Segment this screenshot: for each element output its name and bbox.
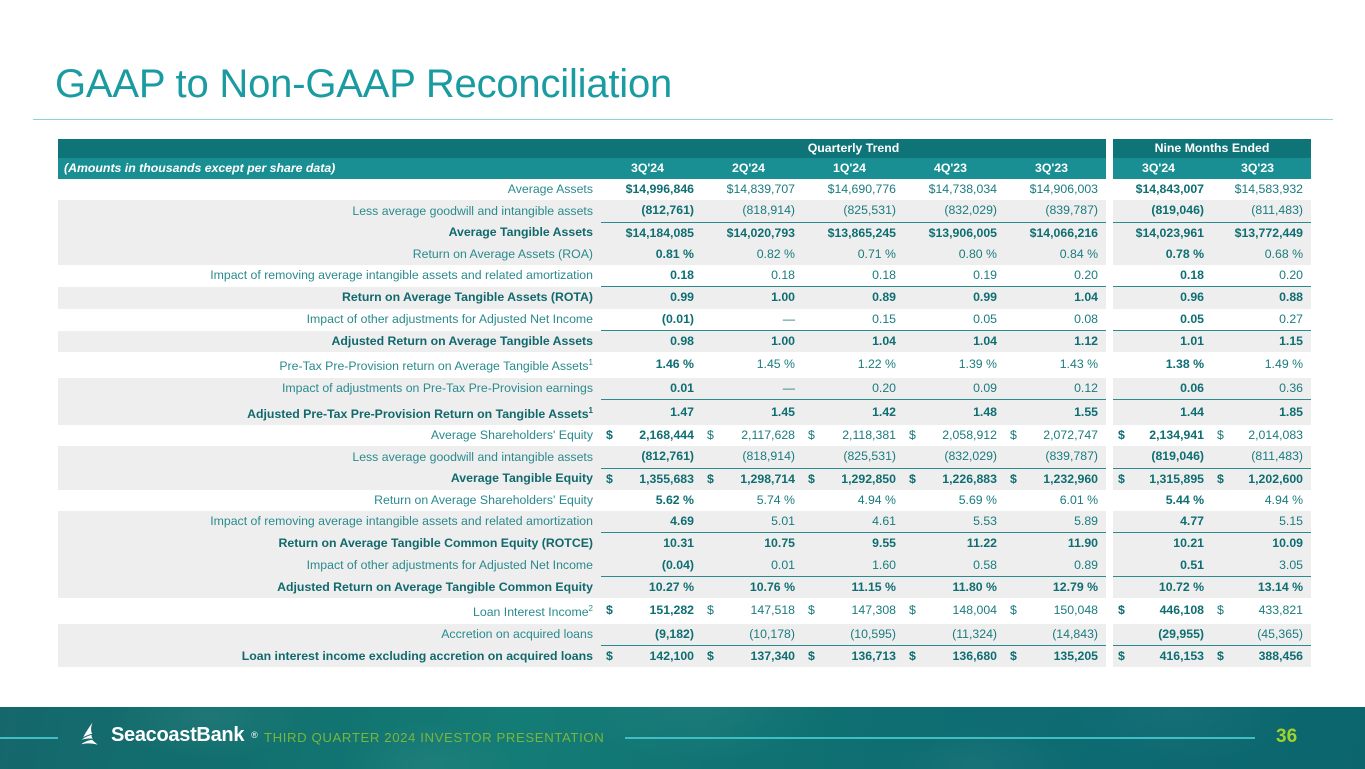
table-row: Loan Interest Income2$151,282$147,518$14… — [58, 598, 1311, 623]
cell-value: 416,153 — [1160, 646, 1204, 667]
table-head: Quarterly Trend Nine Months Ended (Amoun… — [58, 139, 1311, 179]
table-cell: 0.58 — [904, 555, 1005, 577]
column-group-gap — [1106, 352, 1113, 377]
table-row: Return on Average Assets (ROA)0.81 %0.82… — [58, 244, 1311, 265]
table-cell: $137,340 — [702, 646, 803, 668]
cell-value: 137,340 — [751, 646, 795, 667]
table-cell: 0.88 — [1212, 287, 1311, 309]
table-cell: 1.04 — [904, 331, 1005, 353]
group-gap — [1106, 139, 1113, 158]
table-cell: $14,023,961 — [1113, 222, 1212, 244]
table-cell: 0.68 % — [1212, 244, 1311, 265]
table-cell: 0.08 — [1005, 309, 1106, 331]
table-row: Return on Average Tangible Common Equity… — [58, 533, 1311, 555]
cell-value: 1,298,714 — [740, 469, 795, 490]
column-group-gap — [1106, 309, 1113, 331]
cell-value: 446,108 — [1160, 600, 1204, 621]
table-cell: 10.21 — [1113, 533, 1212, 555]
registered-trademark-icon: ® — [251, 730, 258, 740]
table-cell: 0.15 — [803, 309, 904, 331]
table-cell: 1.04 — [1005, 287, 1106, 309]
cell-value: 142,100 — [650, 646, 694, 667]
reconciliation-table-wrapper: Quarterly Trend Nine Months Ended (Amoun… — [58, 139, 1306, 667]
row-label: Average Assets — [58, 179, 601, 200]
column-group-gap — [1106, 555, 1113, 577]
table-cell: (839,787) — [1005, 200, 1106, 222]
table-cell: $14,906,003 — [1005, 179, 1106, 200]
table-cell: 1.47 — [601, 400, 702, 425]
group-header-quarterly: Quarterly Trend — [601, 139, 1106, 158]
column-group-gap — [1106, 331, 1113, 353]
table-cell: 1.85 — [1212, 400, 1311, 425]
row-label: Impact of adjustments on Pre-Tax Pre-Pro… — [58, 378, 601, 400]
table-cell: $14,583,932 — [1212, 179, 1311, 200]
table-cell: 0.18 — [1113, 265, 1212, 287]
page-number: 36 — [1276, 726, 1297, 748]
currency-symbol: $ — [1005, 646, 1017, 667]
cell-value: 1,202,600 — [1248, 469, 1303, 490]
cell-value: 151,282 — [650, 600, 694, 621]
column-group-gap — [1106, 222, 1113, 244]
seacoast-logo: SeacoastBank ® — [80, 722, 258, 748]
table-cell: 0.18 — [702, 265, 803, 287]
table-cell: 1.00 — [702, 287, 803, 309]
table-cell: (0.04) — [601, 555, 702, 577]
column-group-gap — [1106, 598, 1113, 623]
currency-symbol: $ — [1113, 469, 1125, 490]
table-cell: 4.94 % — [803, 490, 904, 511]
footnote-marker: 2 — [589, 604, 593, 613]
table-cell: 0.78 % — [1113, 244, 1212, 265]
column-group-gap — [1106, 446, 1113, 468]
table-cell: $416,153 — [1113, 646, 1212, 668]
table-cell: 0.19 — [904, 265, 1005, 287]
currency-symbol: $ — [1212, 646, 1224, 667]
table-cell: $2,168,444 — [601, 425, 702, 446]
cell-value: 1,232,960 — [1043, 469, 1098, 490]
table-cell: (819,046) — [1113, 446, 1212, 468]
table-cell: 0.96 — [1113, 287, 1212, 309]
row-label: Loan Interest Income2 — [58, 598, 601, 623]
table-cell: 3.05 — [1212, 555, 1311, 577]
table-cell: $1,355,683 — [601, 468, 702, 490]
row-label: Less average goodwill and intangible ass… — [58, 200, 601, 222]
slide-root: GAAP to Non-GAAP Reconciliation Quarterl… — [0, 0, 1365, 769]
table-cell: 1.49 % — [1212, 352, 1311, 377]
table-cell: 1.43 % — [1005, 352, 1106, 377]
table-cell: 13.14 % — [1212, 577, 1311, 599]
col-header-q5: 3Q'23 — [1005, 158, 1106, 179]
currency-symbol: $ — [702, 425, 714, 446]
currency-symbol: $ — [803, 600, 815, 621]
table-cell: (11,324) — [904, 624, 1005, 646]
column-group-gap — [1106, 577, 1113, 599]
col-header-ytd2: 3Q'23 — [1212, 158, 1311, 179]
table-cell: (45,365) — [1212, 624, 1311, 646]
table-cell: 1.00 — [702, 331, 803, 353]
table-cell: $136,713 — [803, 646, 904, 668]
table-cell: 5.01 — [702, 511, 803, 533]
table-row: Return on Average Shareholders' Equity5.… — [58, 490, 1311, 511]
currency-symbol: $ — [702, 600, 714, 621]
currency-symbol: $ — [601, 600, 613, 621]
row-label: Impact of removing average intangible as… — [58, 511, 601, 533]
currency-symbol: $ — [1113, 600, 1125, 621]
cell-value: 136,680 — [953, 646, 997, 667]
table-cell: $14,020,793 — [702, 222, 803, 244]
row-label: Return on Average Shareholders' Equity — [58, 490, 601, 511]
seacoast-sail-icon — [80, 722, 104, 748]
column-group-gap — [1106, 378, 1113, 400]
group-gap — [1106, 158, 1113, 179]
table-cell: (812,761) — [601, 446, 702, 468]
table-cell: (9,182) — [601, 624, 702, 646]
currency-symbol: $ — [904, 425, 916, 446]
table-cell: $136,680 — [904, 646, 1005, 668]
table-cell: $2,072,747 — [1005, 425, 1106, 446]
table-cell: 1.46 % — [601, 352, 702, 377]
table-row: Average Shareholders' Equity$2,168,444$2… — [58, 425, 1311, 446]
table-row: Impact of adjustments on Pre-Tax Pre-Pro… — [58, 378, 1311, 400]
column-group-gap — [1106, 533, 1113, 555]
row-label: Return on Average Tangible Assets (ROTA) — [58, 287, 601, 309]
table-cell: $13,865,245 — [803, 222, 904, 244]
table-column-header-row: (Amounts in thousands except per share d… — [58, 158, 1311, 179]
table-cell: (0.01) — [601, 309, 702, 331]
table-cell: (811,483) — [1212, 446, 1311, 468]
table-cell: 0.18 — [803, 265, 904, 287]
row-label: Accretion on acquired loans — [58, 624, 601, 646]
row-label: Average Shareholders' Equity — [58, 425, 601, 446]
row-label: Adjusted Pre-Tax Pre-Provision Return on… — [58, 400, 601, 425]
table-cell: 0.36 — [1212, 378, 1311, 400]
table-row: Less average goodwill and intangible ass… — [58, 446, 1311, 468]
table-cell: $14,839,707 — [702, 179, 803, 200]
table-cell: 0.89 — [803, 287, 904, 309]
table-cell: $2,117,628 — [702, 425, 803, 446]
column-group-gap — [1106, 425, 1113, 446]
table-cell: 5.62 % — [601, 490, 702, 511]
table-cell: 1.60 — [803, 555, 904, 577]
table-row: Adjusted Return on Average Tangible Asse… — [58, 331, 1311, 353]
table-cell: 0.84 % — [1005, 244, 1106, 265]
table-cell: 10.72 % — [1113, 577, 1212, 599]
column-group-gap — [1106, 490, 1113, 511]
table-cell: — — [702, 378, 803, 400]
table-cell: 1.12 — [1005, 331, 1106, 353]
cell-value: 1,292,850 — [841, 469, 896, 490]
table-cell: 4.61 — [803, 511, 904, 533]
table-cell: $2,118,381 — [803, 425, 904, 446]
table-cell: 1.55 — [1005, 400, 1106, 425]
column-group-gap — [1106, 287, 1113, 309]
table-row: Adjusted Return on Average Tangible Comm… — [58, 577, 1311, 599]
table-cell: (832,029) — [904, 446, 1005, 468]
cell-value: 135,205 — [1054, 646, 1098, 667]
table-cell: 0.71 % — [803, 244, 904, 265]
cell-value: 148,004 — [953, 600, 997, 621]
footer-rule-middle — [625, 737, 1255, 739]
table-cell: 11.90 — [1005, 533, 1106, 555]
table-cell: 0.82 % — [702, 244, 803, 265]
table-cell: 0.01 — [601, 378, 702, 400]
table-cell: 5.15 — [1212, 511, 1311, 533]
cell-value: 136,713 — [852, 646, 896, 667]
col-header-q4: 4Q'23 — [904, 158, 1005, 179]
table-cell: $433,821 — [1212, 598, 1311, 623]
footnote-marker: 1 — [589, 358, 593, 367]
table-cell: 6.01 % — [1005, 490, 1106, 511]
cell-value: 2,168,444 — [639, 425, 694, 446]
table-row: Impact of removing average intangible as… — [58, 265, 1311, 287]
table-cell: — — [702, 309, 803, 331]
cell-value: 388,456 — [1259, 646, 1303, 667]
table-cell: 10.76 % — [702, 577, 803, 599]
row-label: Loan interest income excluding accretion… — [58, 646, 601, 668]
table-cell: 9.55 — [803, 533, 904, 555]
table-cell: $14,996,846 — [601, 179, 702, 200]
column-group-gap — [1106, 646, 1113, 668]
table-cell: 0.51 — [1113, 555, 1212, 577]
table-cell: $1,292,850 — [803, 468, 904, 490]
currency-symbol: $ — [601, 646, 613, 667]
column-group-gap — [1106, 511, 1113, 533]
group-header-nine-months: Nine Months Ended — [1113, 139, 1311, 158]
table-row: Impact of removing average intangible as… — [58, 511, 1311, 533]
table-cell: $147,308 — [803, 598, 904, 623]
currency-symbol: $ — [1212, 425, 1224, 446]
table-cell: $1,315,895 — [1113, 468, 1212, 490]
currency-symbol: $ — [1113, 646, 1125, 667]
table-cell: 0.12 — [1005, 378, 1106, 400]
table-cell: 12.79 % — [1005, 577, 1106, 599]
col-header-ytd1: 3Q'24 — [1113, 158, 1212, 179]
table-cell: 0.06 — [1113, 378, 1212, 400]
row-label: Adjusted Return on Average Tangible Asse… — [58, 331, 601, 353]
table-cell: 0.99 — [904, 287, 1005, 309]
table-body: Average Assets$14,996,846$14,839,707$14,… — [58, 179, 1311, 667]
currency-symbol: $ — [1005, 469, 1017, 490]
column-group-gap — [1106, 624, 1113, 646]
footnote-marker: 1 — [589, 406, 593, 415]
table-cell: (10,178) — [702, 624, 803, 646]
table-cell: 0.05 — [904, 309, 1005, 331]
table-row: Impact of other adjustments for Adjusted… — [58, 309, 1311, 331]
table-cell: (818,914) — [702, 446, 803, 468]
column-group-gap — [1106, 179, 1113, 200]
currency-symbol: $ — [904, 600, 916, 621]
table-cell: $1,232,960 — [1005, 468, 1106, 490]
table-cell: 0.20 — [1212, 265, 1311, 287]
currency-symbol: $ — [1005, 425, 1017, 446]
table-cell: 1.48 — [904, 400, 1005, 425]
footer-subtitle: THIRD QUARTER 2024 INVESTOR PRESENTATION — [264, 730, 604, 745]
table-row: Less average goodwill and intangible ass… — [58, 200, 1311, 222]
table-cell: 5.53 — [904, 511, 1005, 533]
table-cell: $142,100 — [601, 646, 702, 668]
table-row: Average Assets$14,996,846$14,839,707$14,… — [58, 179, 1311, 200]
table-cell: 5.74 % — [702, 490, 803, 511]
row-label: Impact of other adjustments for Adjusted… — [58, 555, 601, 577]
table-group-header-row: Quarterly Trend Nine Months Ended — [58, 139, 1311, 158]
cell-value: 1,226,883 — [942, 469, 997, 490]
table-cell: (832,029) — [904, 200, 1005, 222]
table-cell: 1.44 — [1113, 400, 1212, 425]
table-cell: 4.94 % — [1212, 490, 1311, 511]
cell-value: 2,117,628 — [741, 425, 795, 446]
table-cell: 0.20 — [803, 378, 904, 400]
table-row: Adjusted Pre-Tax Pre-Provision Return on… — [58, 400, 1311, 425]
page-title: GAAP to Non-GAAP Reconciliation — [55, 62, 672, 107]
row-label: Average Tangible Assets — [58, 222, 601, 244]
table-cell: 0.99 — [601, 287, 702, 309]
currency-symbol: $ — [1212, 469, 1224, 490]
table-cell: $147,518 — [702, 598, 803, 623]
col-header-q1: 3Q'24 — [601, 158, 702, 179]
cell-value: 2,072,747 — [1043, 425, 1098, 446]
cell-value: 147,308 — [852, 600, 896, 621]
cell-value: 1,355,683 — [639, 469, 694, 490]
table-cell: $1,202,600 — [1212, 468, 1311, 490]
row-label: Adjusted Return on Average Tangible Comm… — [58, 577, 601, 599]
table-cell: 0.81 % — [601, 244, 702, 265]
footer-rule-left — [0, 737, 58, 739]
table-cell: 1.42 — [803, 400, 904, 425]
table-cell: (14,843) — [1005, 624, 1106, 646]
table-row: Average Tangible Assets$14,184,085$14,02… — [58, 222, 1311, 244]
column-group-gap — [1106, 400, 1113, 425]
table-row: Pre-Tax Pre-Provision return on Average … — [58, 352, 1311, 377]
table-cell: $2,058,912 — [904, 425, 1005, 446]
table-cell: 5.69 % — [904, 490, 1005, 511]
table-cell: $150,048 — [1005, 598, 1106, 623]
col-header-q2: 2Q'24 — [702, 158, 803, 179]
currency-symbol: $ — [904, 469, 916, 490]
table-cell: $2,014,083 — [1212, 425, 1311, 446]
table-cell: (825,531) — [803, 446, 904, 468]
table-cell: 5.44 % — [1113, 490, 1212, 511]
table-cell: 11.22 — [904, 533, 1005, 555]
column-group-gap — [1106, 468, 1113, 490]
currency-symbol: $ — [904, 646, 916, 667]
table-cell: 1.15 — [1212, 331, 1311, 353]
cell-value: 150,048 — [1054, 600, 1098, 621]
currency-symbol: $ — [1212, 600, 1224, 621]
column-group-gap — [1106, 265, 1113, 287]
table-cell: 0.98 — [601, 331, 702, 353]
table-cell: (819,046) — [1113, 200, 1212, 222]
currency-symbol: $ — [1113, 425, 1125, 446]
table-cell: 4.69 — [601, 511, 702, 533]
row-label: Impact of removing average intangible as… — [58, 265, 601, 287]
table-cell: 0.18 — [601, 265, 702, 287]
table-cell: 0.05 — [1113, 309, 1212, 331]
table-cell: 4.77 — [1113, 511, 1212, 533]
table-cell: 0.20 — [1005, 265, 1106, 287]
currency-symbol: $ — [702, 469, 714, 490]
table-cell: 0.27 — [1212, 309, 1311, 331]
table-cell: 5.89 — [1005, 511, 1106, 533]
table-row: Loan interest income excluding accretion… — [58, 646, 1311, 668]
currency-symbol: $ — [601, 425, 613, 446]
table-cell: (818,914) — [702, 200, 803, 222]
header-spacer — [58, 139, 601, 158]
table-row: Average Tangible Equity$1,355,683$1,298,… — [58, 468, 1311, 490]
column-group-gap — [1106, 200, 1113, 222]
table-cell: 1.45 % — [702, 352, 803, 377]
row-label: Pre-Tax Pre-Provision return on Average … — [58, 352, 601, 377]
seacoast-wordmark: SeacoastBank — [111, 724, 244, 747]
table-cell: 0.80 % — [904, 244, 1005, 265]
table-cell: 0.01 — [702, 555, 803, 577]
column-group-gap — [1106, 244, 1113, 265]
cell-value: 433,821 — [1259, 600, 1303, 621]
table-cell: $13,772,449 — [1212, 222, 1311, 244]
table-cell: (29,955) — [1113, 624, 1212, 646]
table-cell: $135,205 — [1005, 646, 1106, 668]
cell-value: 2,014,083 — [1248, 425, 1303, 446]
currency-symbol: $ — [702, 646, 714, 667]
table-row: Return on Average Tangible Assets (ROTA)… — [58, 287, 1311, 309]
table-cell: $14,738,034 — [904, 179, 1005, 200]
table-cell: $13,906,005 — [904, 222, 1005, 244]
table-cell: 10.75 — [702, 533, 803, 555]
currency-symbol: $ — [803, 469, 815, 490]
col-header-q3: 1Q'24 — [803, 158, 904, 179]
table-cell: $446,108 — [1113, 598, 1212, 623]
table-cell: (839,787) — [1005, 446, 1106, 468]
table-cell: 11.15 % — [803, 577, 904, 599]
table-cell: 1.04 — [803, 331, 904, 353]
table-cell: (812,761) — [601, 200, 702, 222]
table-cell: $14,690,776 — [803, 179, 904, 200]
table-cell: $2,134,941 — [1113, 425, 1212, 446]
table-cell: $1,298,714 — [702, 468, 803, 490]
row-label: Average Tangible Equity — [58, 468, 601, 490]
table-cell: 1.01 — [1113, 331, 1212, 353]
title-divider — [33, 119, 1333, 120]
currency-symbol: $ — [601, 469, 613, 490]
table-cell: (10,595) — [803, 624, 904, 646]
table-cell: 10.31 — [601, 533, 702, 555]
table-cell: 1.45 — [702, 400, 803, 425]
table-cell: $388,456 — [1212, 646, 1311, 668]
currency-symbol: $ — [803, 646, 815, 667]
row-label: Return on Average Tangible Common Equity… — [58, 533, 601, 555]
cell-value: 2,058,912 — [942, 425, 997, 446]
currency-symbol: $ — [1005, 600, 1017, 621]
gaap-reconciliation-table: Quarterly Trend Nine Months Ended (Amoun… — [58, 139, 1311, 667]
row-label: Return on Average Assets (ROA) — [58, 244, 601, 265]
table-cell: (825,531) — [803, 200, 904, 222]
table-cell: 0.89 — [1005, 555, 1106, 577]
table-cell: 10.09 — [1212, 533, 1311, 555]
table-cell: 1.22 % — [803, 352, 904, 377]
header-amounts-note: (Amounts in thousands except per share d… — [58, 158, 601, 179]
cell-value: 2,118,381 — [842, 425, 896, 446]
row-label: Less average goodwill and intangible ass… — [58, 446, 601, 468]
table-cell: 10.27 % — [601, 577, 702, 599]
cell-value: 2,134,941 — [1149, 425, 1204, 446]
table-cell: $14,843,007 — [1113, 179, 1212, 200]
table-cell: 1.39 % — [904, 352, 1005, 377]
table-cell: 11.80 % — [904, 577, 1005, 599]
table-cell: $14,066,216 — [1005, 222, 1106, 244]
table-cell: 1.38 % — [1113, 352, 1212, 377]
table-cell: (811,483) — [1212, 200, 1311, 222]
table-cell: $148,004 — [904, 598, 1005, 623]
row-label: Impact of other adjustments for Adjusted… — [58, 309, 601, 331]
